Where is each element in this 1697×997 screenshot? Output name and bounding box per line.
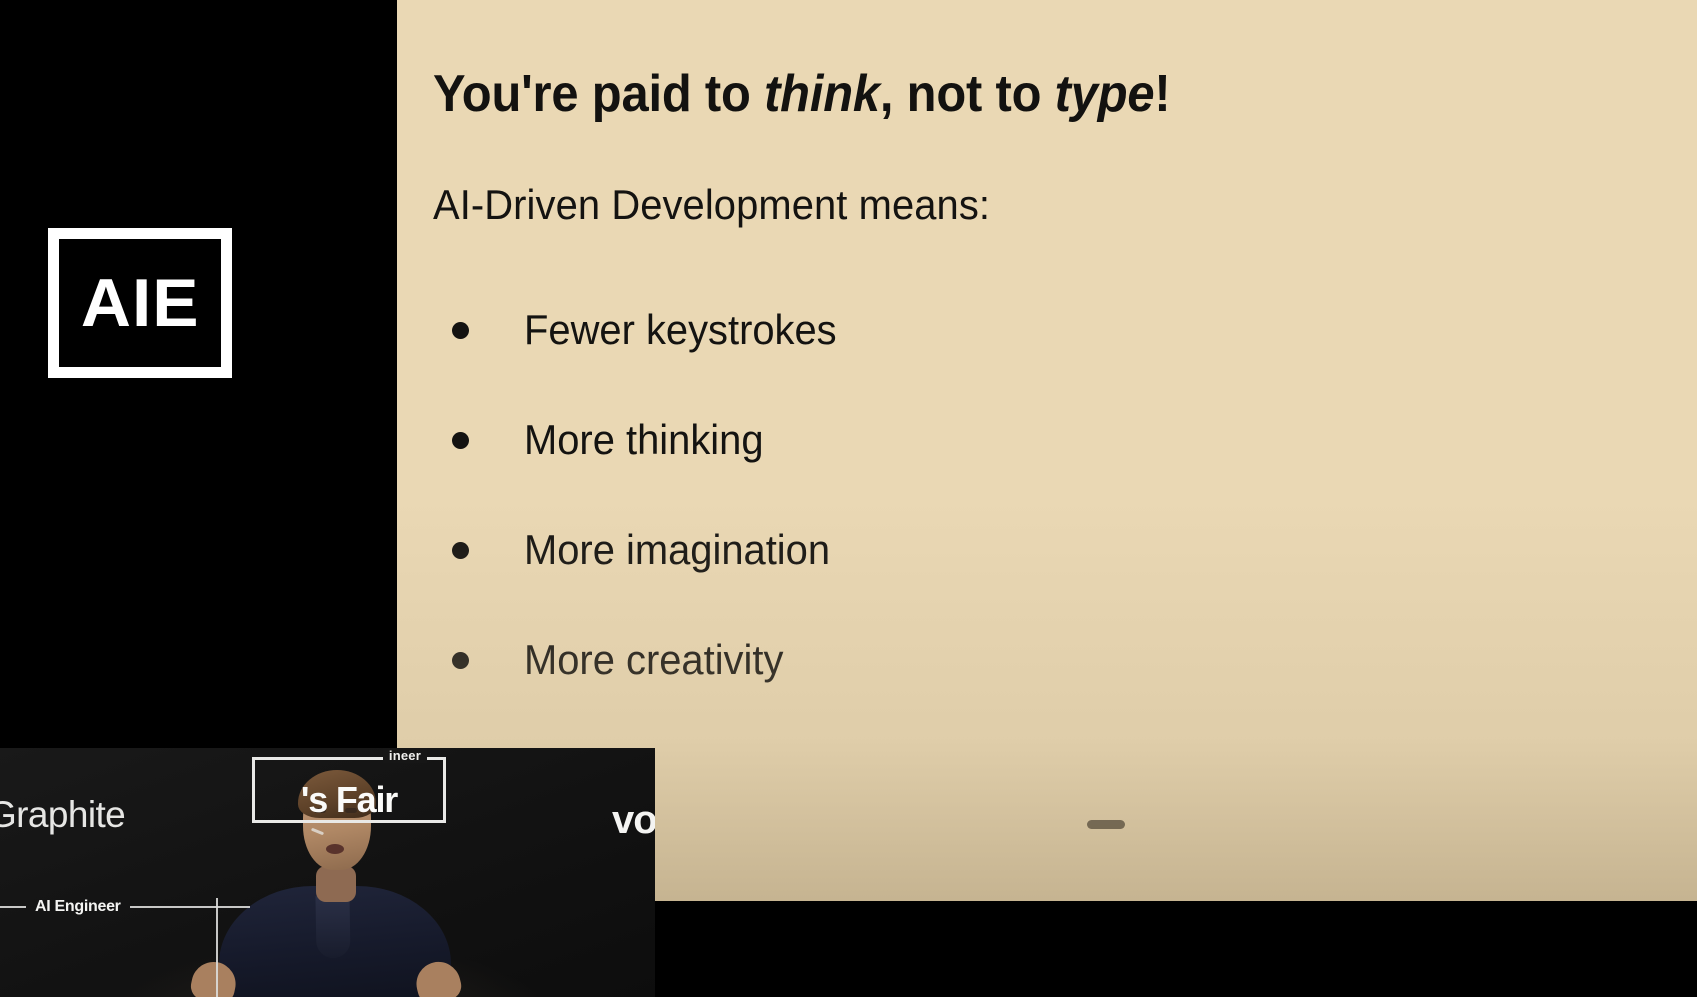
aie-logo: AIE — [48, 228, 232, 378]
list-item: More thinking — [433, 385, 1697, 495]
speaker-mouth — [326, 844, 344, 854]
speaker-neck — [316, 866, 356, 902]
speaker-collar — [315, 896, 350, 959]
home-indicator — [1087, 820, 1125, 829]
bullet-label: More creativity — [524, 636, 783, 684]
slide-bullet-list: Fewer keystrokes More thinking More imag… — [433, 275, 1697, 715]
bullet-dot-icon — [452, 542, 469, 559]
aie-logo-text: AIE — [81, 269, 200, 337]
worlds-fair-badge-title: 's Fair — [301, 782, 397, 818]
stage-backdrop: AIE You're paid to think, not to type! A… — [0, 0, 1697, 997]
speaker-camera-overlay[interactable]: Graphite vo ineer 's Fair AI Engineer — [0, 748, 655, 997]
worlds-fair-badge-kicker: ineer — [383, 748, 427, 763]
slide-title-part2: , not to — [880, 65, 1055, 123]
slide-title-part1: You're paid to — [433, 65, 764, 123]
rule-line-left — [0, 906, 26, 908]
slide-title-emphasis-think: think — [764, 65, 880, 123]
bullet-dot-icon — [452, 652, 469, 669]
bullet-label: Fewer keystrokes — [524, 306, 837, 354]
sponsor-logo-clipped: vo — [612, 798, 655, 843]
bullet-label: More imagination — [524, 526, 830, 574]
worlds-fair-backdrop-badge: ineer 's Fair — [252, 757, 446, 823]
rule-corner-vertical — [216, 898, 218, 997]
list-item: More imagination — [433, 495, 1697, 605]
rule-line-right — [130, 906, 250, 908]
ai-engineer-backdrop-badge: AI Engineer — [0, 898, 250, 916]
bullet-dot-icon — [452, 432, 469, 449]
slide-title-emphasis-type: type — [1055, 65, 1155, 123]
list-item: More creativity — [433, 605, 1697, 715]
slide-subtitle: AI-Driven Development means: — [433, 181, 1634, 229]
slide-title: You're paid to think, not to type! — [433, 66, 1621, 123]
bullet-label: More thinking — [524, 416, 764, 464]
list-item: Fewer keystrokes — [433, 275, 1697, 385]
ai-engineer-label: AI Engineer — [35, 898, 121, 916]
sponsor-logo-graphite: Graphite — [0, 794, 125, 836]
bottom-letterbox-bar — [655, 901, 1697, 997]
bullet-dot-icon — [452, 322, 469, 339]
slide-title-part3: ! — [1154, 65, 1170, 123]
